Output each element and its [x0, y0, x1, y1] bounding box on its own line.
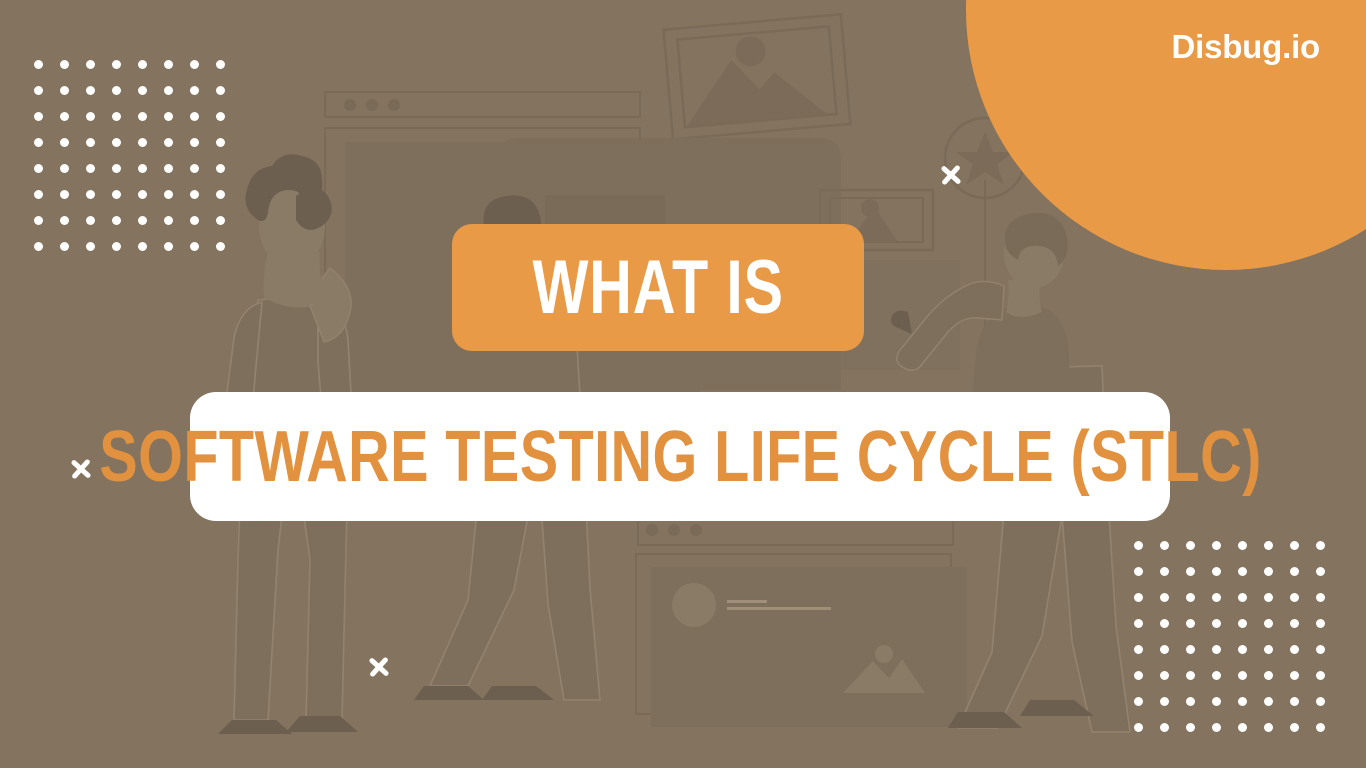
headline-kicker-text: WHAT IS: [532, 250, 783, 326]
headline-title-text: SOFTWARE TESTING LIFE CYCLE (STLC): [99, 421, 1261, 493]
photo-frame-tilted: [663, 14, 850, 139]
headline-kicker-box: WHAT IS: [452, 224, 864, 351]
dot-grid-top-left: [34, 60, 242, 268]
browser-window-bottom: [636, 520, 967, 727]
headline-title-box: SOFTWARE TESTING LIFE CYCLE (STLC): [190, 392, 1170, 521]
plus-mark-icon: [938, 162, 964, 188]
dot-grid-bottom-right: [1134, 541, 1342, 749]
cover-graphic-canvas: Disbug.io WHAT IS SOFTWARE TESTING LIFE …: [0, 0, 1366, 768]
plus-mark-icon: [68, 456, 94, 482]
brand-logo-text: Disbug.io: [1171, 28, 1320, 66]
plus-mark-icon: [366, 654, 392, 680]
